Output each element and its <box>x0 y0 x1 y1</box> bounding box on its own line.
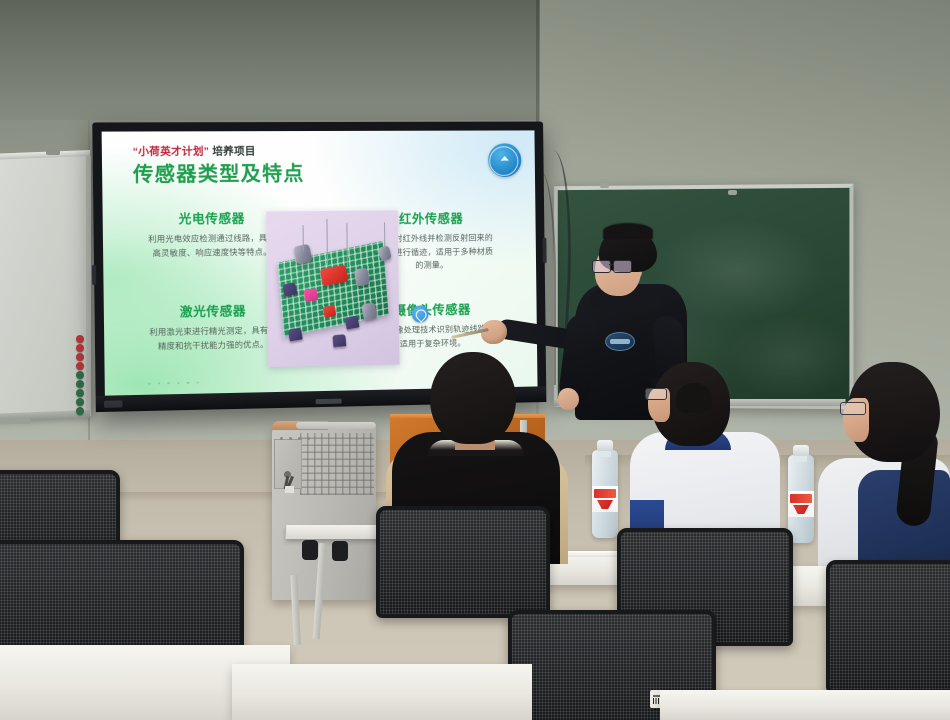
pcb-pink-component <box>303 288 318 302</box>
sensor-heading: 激光传感器 <box>147 300 279 321</box>
presenter-chest-logo <box>605 332 635 351</box>
pcb-transistor <box>332 334 346 347</box>
pcb-lead <box>384 222 385 248</box>
pcb-transistor <box>345 315 360 329</box>
school-logo-ring <box>489 146 518 176</box>
bottle-cap <box>793 445 809 456</box>
whiteboard-magnets <box>76 335 87 410</box>
slide-title: 传感器类型及特点 <box>133 157 305 187</box>
chalkboard-clip-right <box>728 190 737 195</box>
water-bottle-center[interactable] <box>592 450 618 538</box>
magnet-green <box>76 398 84 406</box>
magnet-red <box>76 362 84 370</box>
chalkboard-clip-left <box>600 183 609 188</box>
magnet-red <box>76 344 84 352</box>
magnet-green <box>76 389 84 397</box>
sensor-block-photoelectric: 光电传感器 利用光电效应检测通过线路，具有高灵敏度、响应速度快等特点。 <box>146 207 278 260</box>
lectern-foot <box>332 541 348 561</box>
classroom-scene: “小荷英才计划” 培养项目 传感器类型及特点 光电传感器 利用光电效应检测通过线… <box>0 0 950 720</box>
tv-ir-sensor <box>104 400 123 408</box>
tv-side-button[interactable] <box>542 238 546 264</box>
lectern-top-edge <box>296 422 376 429</box>
tv-left-button[interactable] <box>92 265 96 285</box>
chair-student-3[interactable] <box>826 560 950 693</box>
magnet-green <box>76 407 84 415</box>
bottle-neck <box>599 450 611 457</box>
lectern-perforated-panel <box>300 433 374 495</box>
magnet-green <box>76 380 84 388</box>
pcb-lead <box>326 219 328 267</box>
presenter-glasses-icon <box>592 260 632 271</box>
student-head <box>430 352 516 444</box>
presenter-pointing-hand <box>481 320 507 344</box>
water-bottle-right[interactable] <box>788 455 814 543</box>
bottle-label-red-band <box>594 489 616 498</box>
desk-foreground-right <box>660 690 950 720</box>
pcb-lead <box>303 225 304 251</box>
pcb-red-component <box>323 305 337 318</box>
glasses-lens-right <box>613 260 632 273</box>
whiteboard-clip <box>46 150 60 155</box>
sensor-block-laser: 激光传感器 利用激光束进行精光测定，具有高精度和抗干扰能力强的优点。 <box>147 300 279 354</box>
slide-eyebrow-program: “小荷英才计划” <box>133 145 210 157</box>
student-partial-back <box>676 383 712 413</box>
chair-student-1[interactable] <box>376 506 550 618</box>
pcb-lead <box>346 223 348 269</box>
presenter-left-hand <box>558 388 579 410</box>
pcb-photo <box>266 210 399 367</box>
student-glasses-icon <box>840 402 866 415</box>
bottle-cap <box>597 440 613 451</box>
sensor-body: 利用激光束进行精光测定，具有高精度和抗干扰能力强的优点。 <box>147 324 279 354</box>
bottle-neck <box>795 455 807 462</box>
magnet-red <box>76 335 84 343</box>
presenter-hair-top <box>603 223 653 239</box>
magnet-red <box>76 353 84 361</box>
whiteboard-tray <box>0 418 30 424</box>
pcb-metal-can <box>354 268 370 287</box>
sensor-body: 利用光电效应检测通过线路，具有高灵敏度、响应速度快等特点。 <box>146 231 278 260</box>
student-glasses-icon <box>645 388 667 400</box>
slide-eyebrow-suffix: 培养项目 <box>209 145 256 157</box>
magnet-green <box>76 371 84 379</box>
glasses-lens-left <box>592 260 611 273</box>
tv-brand-mark <box>316 399 342 405</box>
lectern-door[interactable] <box>274 439 302 489</box>
lectern-podium <box>272 425 390 640</box>
bottle-label-red-band <box>790 494 812 503</box>
pcb-transistor <box>288 328 303 342</box>
lectern-label <box>285 486 294 493</box>
lectern-foot <box>302 540 318 560</box>
pcb-metal-can <box>361 302 378 320</box>
desk-foreground-center <box>232 664 532 720</box>
sensor-heading: 光电传感器 <box>146 207 278 227</box>
